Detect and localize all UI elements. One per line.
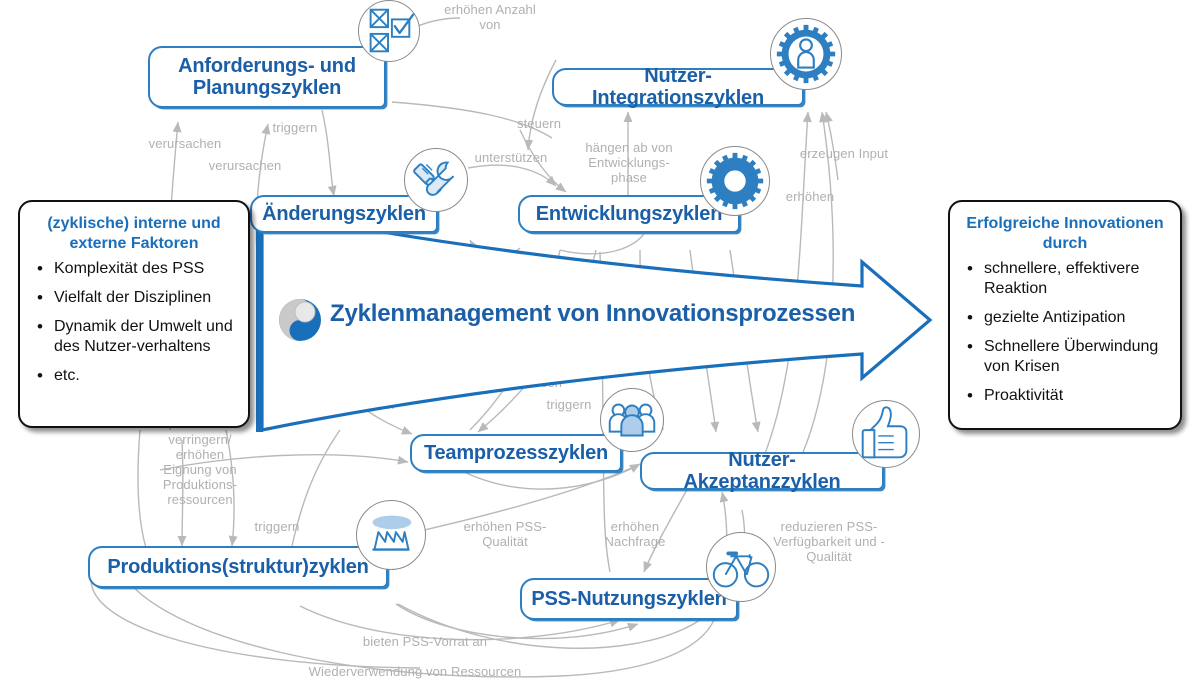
list-item: etc. — [54, 366, 238, 386]
left-card-title: (zyklische) interne und externe Faktoren — [20, 202, 248, 259]
left-factors-card: (zyklische) interne und externe Faktoren… — [18, 200, 250, 428]
right-card-title: Erfolgreiche Innovationen durch — [950, 202, 1180, 259]
list-item: Proaktivität — [984, 386, 1170, 406]
list-item: gezielte Antizipation — [984, 308, 1170, 328]
gear-person-icon — [770, 18, 842, 90]
right-card-list: schnellere, effektivere Reaktion gezielt… — [950, 259, 1180, 425]
list-item: schnellere, effektivere Reaktion — [984, 259, 1170, 299]
requirements-checkbox-icon — [358, 0, 420, 62]
node-pss-nutzungszyklen[interactable]: PSS-Nutzungszyklen — [520, 578, 738, 620]
node-label: PSS-Nutzungszyklen — [523, 588, 734, 610]
bicycle-icon — [706, 532, 776, 602]
list-item: Schnellere Überwindung von Krisen — [984, 337, 1170, 377]
node-label: Produktions(struktur)zyklen — [99, 556, 376, 578]
node-anforderungs-und-planungszyklen[interactable]: Anforderungs- und Planungszyklen — [148, 46, 386, 108]
list-item: Vielfalt der Disziplinen — [54, 288, 238, 308]
node-label: Nutzer-Integrationszyklen — [554, 65, 802, 110]
list-item: Dynamik der Umwelt und des Nutzer-verhal… — [54, 317, 238, 357]
node-nutzer-integrationszyklen[interactable]: Nutzer-Integrationszyklen — [552, 68, 804, 106]
page-title: Zyklenmanagement von Innovationsprozesse… — [330, 300, 855, 328]
people-group-icon — [600, 388, 664, 452]
node-teamprozesszyklen[interactable]: Teamprozesszyklen — [410, 434, 622, 472]
gear-icon — [700, 146, 770, 216]
list-item: Komplexität des PSS — [54, 259, 238, 279]
factory-icon — [356, 500, 426, 570]
tools-icon — [404, 148, 468, 212]
node-label: Anforderungs- und Planungszyklen — [150, 55, 384, 100]
node-label: Entwicklungszyklen — [528, 203, 730, 225]
node-label: Teamprozesszyklen — [416, 442, 616, 464]
thumbs-up-icon — [852, 400, 920, 468]
node-nutzer-akzeptanzzyklen[interactable]: Nutzer-Akzeptanzzyklen — [640, 452, 884, 490]
node-label: Nutzer-Akzeptanzzyklen — [642, 449, 882, 494]
left-card-list: Komplexität des PSS Vielfalt der Diszipl… — [20, 259, 248, 405]
right-outcomes-card: Erfolgreiche Innovationen durch schnelle… — [948, 200, 1182, 430]
yin-yang-circle-icon — [277, 297, 323, 343]
diagram-canvas: erhöhen Anzahl von verursachen verursach… — [0, 0, 1200, 690]
node-produktionsstrukturzyklen[interactable]: Produktions(struktur)zyklen — [88, 546, 388, 588]
